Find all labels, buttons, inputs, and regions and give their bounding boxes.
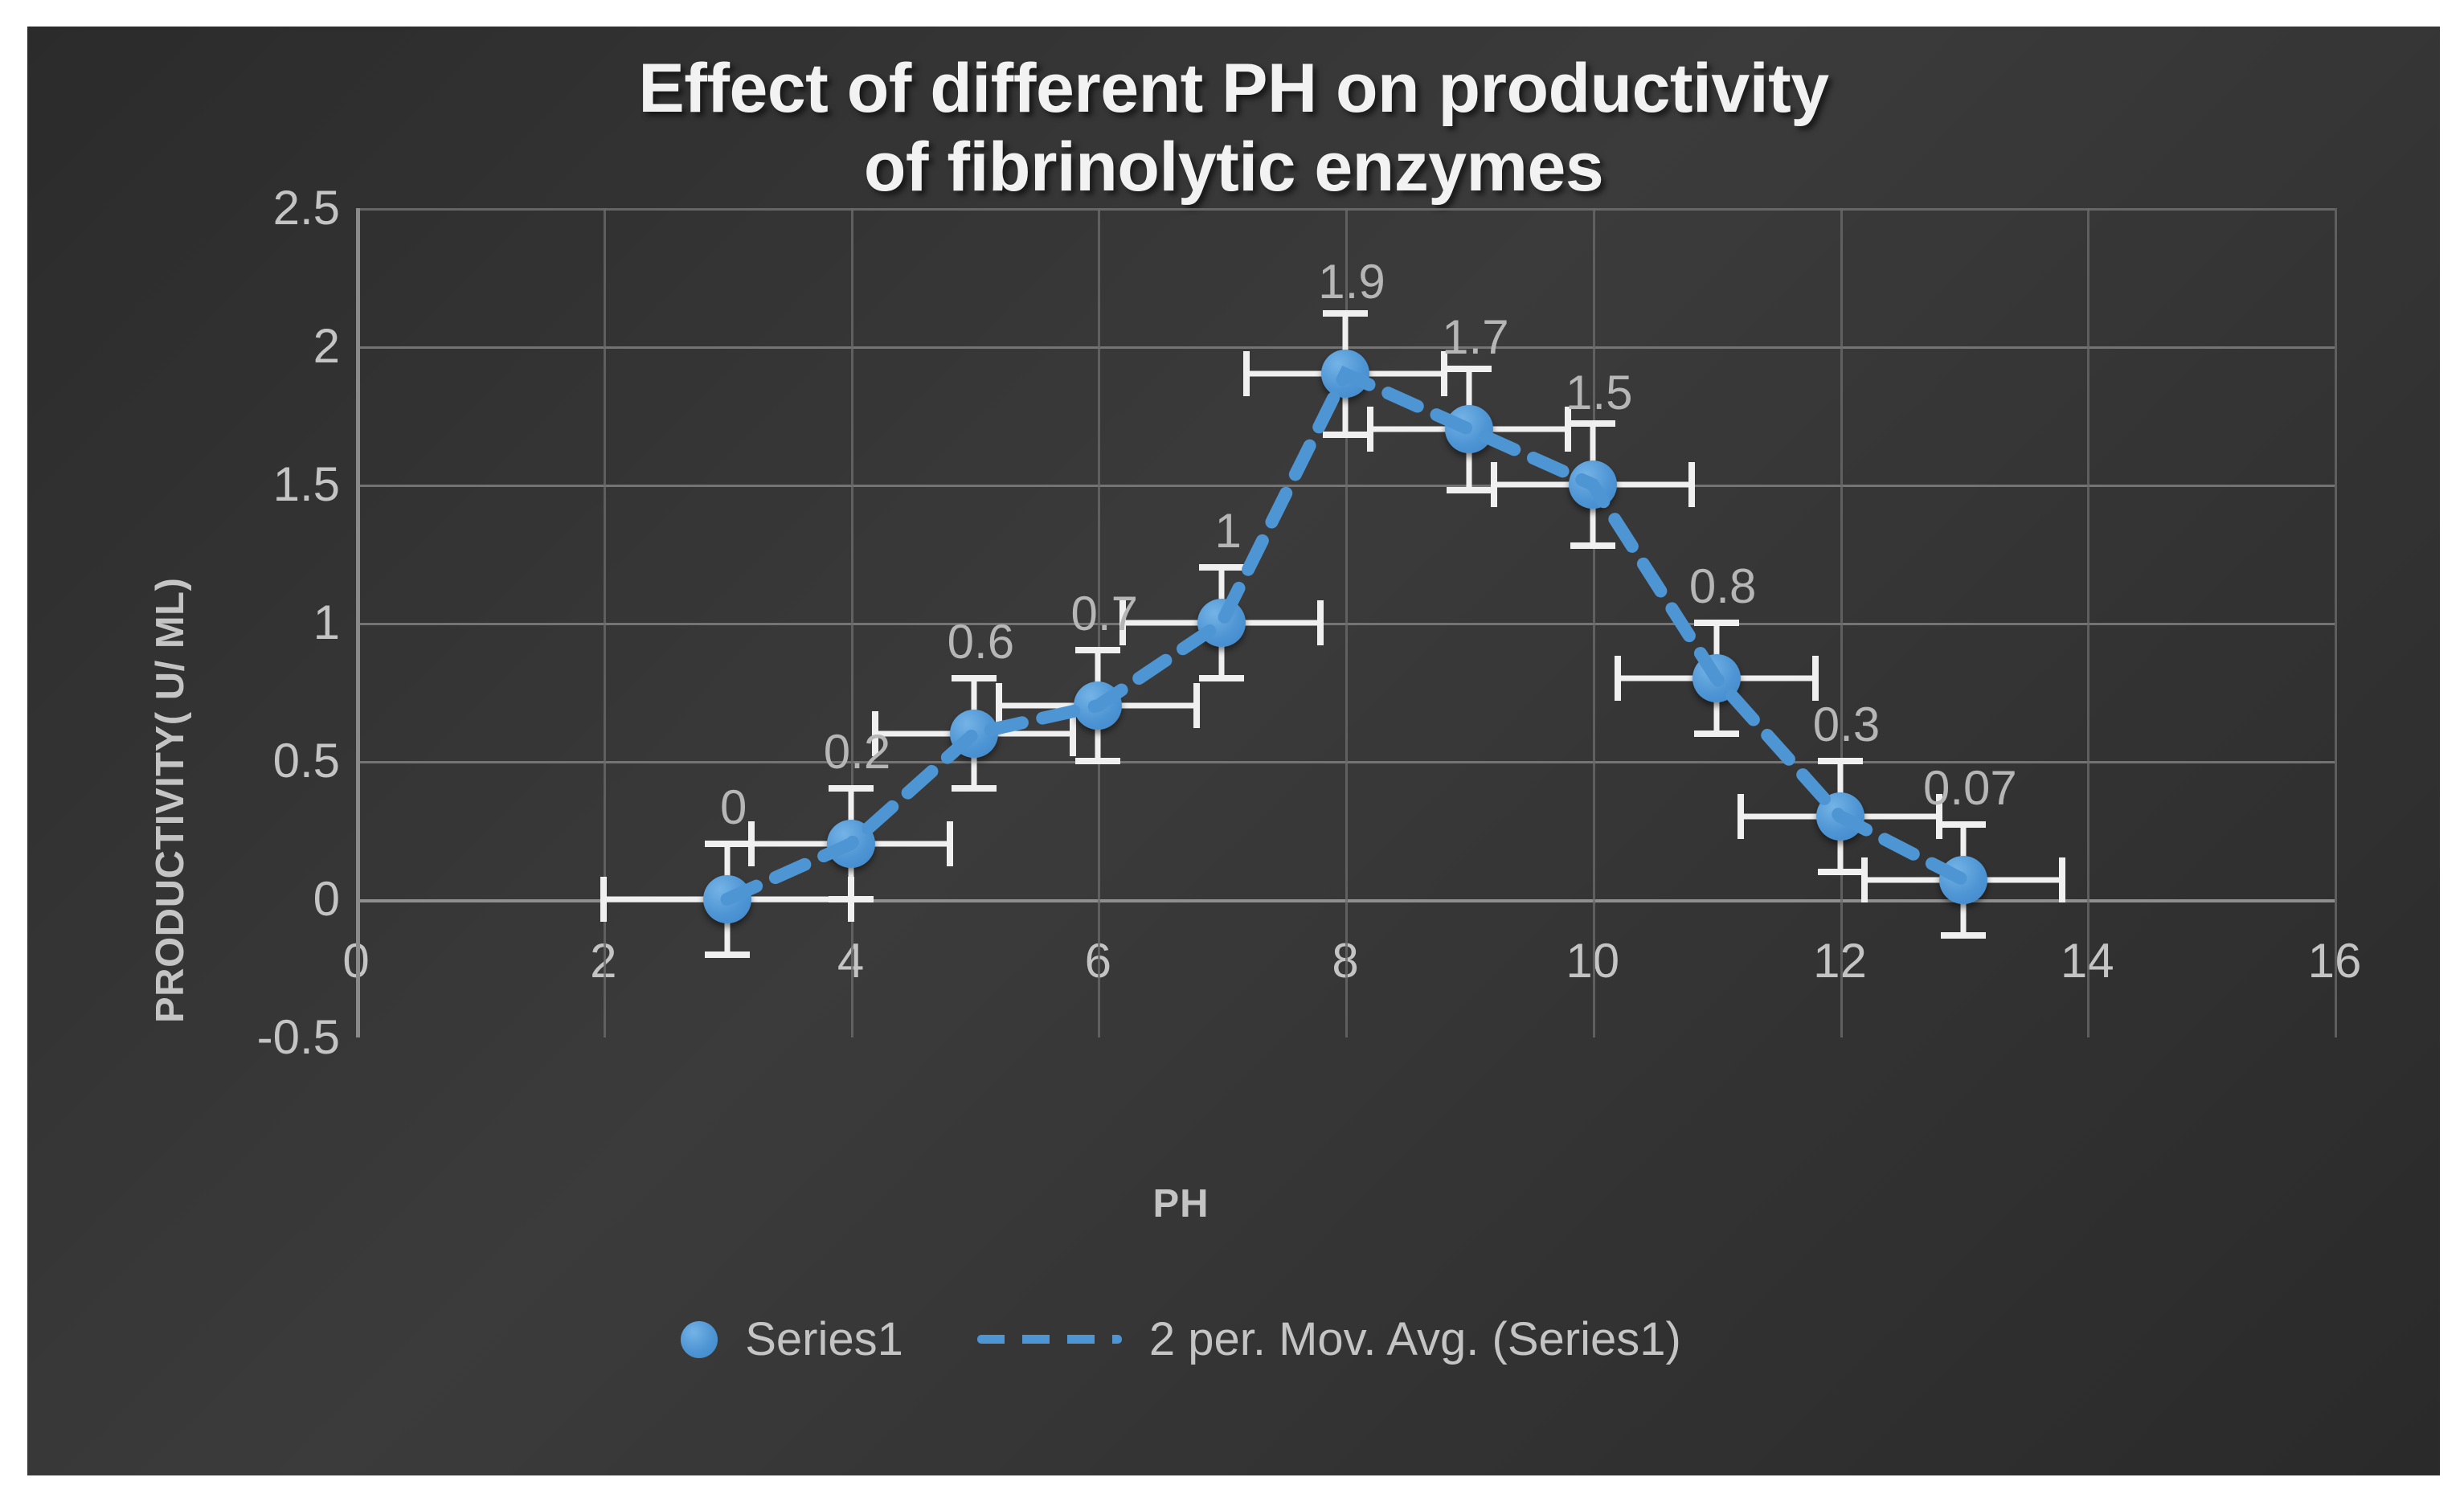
- data-point-marker[interactable]: [1816, 792, 1864, 841]
- data-point-marker[interactable]: [1445, 405, 1493, 453]
- legend-entry[interactable]: 2 per. Mov. Avg. (Series1): [977, 1312, 1681, 1366]
- axis-y-line: [356, 208, 360, 1037]
- y-axis-tick-label: 0: [203, 871, 340, 927]
- error-bar-cap: [1694, 730, 1739, 737]
- error-bar-cap: [1694, 620, 1739, 626]
- chart-title-line-1: Effect of different PH on productivity: [27, 49, 2440, 128]
- error-bar-cap: [1323, 432, 1368, 438]
- error-bar-cap: [1317, 600, 1324, 645]
- y-axis-tick-label: 2: [203, 318, 340, 374]
- data-point-label: 0.7: [1071, 586, 1138, 641]
- legend-entry[interactable]: Series1: [681, 1312, 903, 1366]
- legend-label: 2 per. Mov. Avg. (Series1): [1149, 1312, 1681, 1366]
- error-bar-cap: [952, 675, 997, 681]
- error-bar-cap: [952, 785, 997, 792]
- error-bar-cap: [1199, 564, 1244, 571]
- error-bar-cap: [1941, 821, 1986, 828]
- error-bar-cap: [2059, 857, 2065, 902]
- error-bar-cap: [1818, 869, 1863, 875]
- y-axis-tick-label: -0.5: [203, 1009, 340, 1065]
- y-axis-tick-label: 2.5: [203, 180, 340, 235]
- data-point-label: 0.6: [948, 614, 1014, 669]
- error-bar-cap: [947, 821, 953, 866]
- data-point-marker[interactable]: [950, 710, 998, 758]
- error-bar-cap: [705, 841, 750, 847]
- chart-title: Effect of different PH on productivity o…: [27, 49, 2440, 207]
- y-axis-tick-label: 0.5: [203, 733, 340, 788]
- legend-label: Series1: [745, 1312, 903, 1366]
- error-bar-cap: [1075, 758, 1120, 764]
- data-point-marker[interactable]: [1197, 599, 1246, 647]
- error-bar-cap: [1688, 462, 1695, 507]
- error-bar-cap: [1447, 366, 1492, 372]
- error-bar-cap: [1243, 351, 1250, 396]
- error-bar-cap: [705, 951, 750, 958]
- y-axis-title: PRODUCTIVITY( U/ ML): [148, 578, 193, 1023]
- error-bar-cap: [1075, 647, 1120, 653]
- plot-area: 00.20.60.711.91.71.50.80.30.07: [356, 208, 2335, 1037]
- error-bar-cap: [1941, 932, 1986, 939]
- x-axis-title: PH: [27, 1181, 2335, 1226]
- data-point-label: 1: [1214, 503, 1241, 559]
- data-point-label: 0.3: [1813, 697, 1880, 752]
- error-bar-cap: [1367, 407, 1373, 452]
- data-point-label: 0.07: [1923, 760, 2017, 816]
- error-bar-cap: [829, 896, 874, 902]
- error-bar-cap: [1447, 487, 1492, 493]
- data-point-marker[interactable]: [1692, 654, 1741, 702]
- data-point-marker[interactable]: [1321, 350, 1369, 398]
- error-bar-cap: [1491, 462, 1497, 507]
- error-bar-cap: [600, 877, 607, 922]
- legend-circle-icon: [681, 1321, 718, 1358]
- data-point-label: 0.8: [1689, 559, 1756, 614]
- data-point-marker[interactable]: [827, 820, 875, 868]
- error-bar-cap: [996, 683, 1002, 728]
- error-bar-cap: [1737, 794, 1744, 839]
- data-point-marker[interactable]: [1569, 460, 1617, 509]
- data-point-label: 0: [720, 780, 747, 835]
- data-point-label: 0.2: [824, 724, 890, 780]
- chart-container: Effect of different PH on productivity o…: [27, 27, 2440, 1475]
- error-bar-cap: [748, 821, 755, 866]
- error-bar-cap: [1615, 656, 1621, 701]
- error-bar-cap: [1812, 656, 1819, 701]
- error-bar-cap: [1570, 420, 1615, 427]
- error-bar-cap: [1193, 683, 1200, 728]
- chart-title-line-2: of fibrinolytic enzymes: [27, 128, 2440, 207]
- error-bar-cap: [829, 785, 874, 792]
- gridline-vertical: [2335, 208, 2337, 1037]
- data-point-marker[interactable]: [1939, 856, 1987, 904]
- gridline-vertical: [1840, 208, 1843, 1037]
- data-point-marker[interactable]: [703, 875, 751, 923]
- data-point-label: 1.5: [1566, 365, 1632, 420]
- legend-dashed-line-icon: [977, 1335, 1122, 1344]
- y-axis-tick-label: 1: [203, 595, 340, 650]
- error-bar-cap: [1818, 758, 1863, 764]
- data-point-label: 1.9: [1318, 254, 1385, 309]
- error-bar-cap: [1199, 675, 1244, 681]
- gridline-vertical: [2087, 208, 2089, 1037]
- y-axis-tick-label: 1.5: [203, 456, 340, 512]
- data-point-marker[interactable]: [1074, 681, 1122, 730]
- data-point-label: 1.7: [1442, 309, 1508, 365]
- chart-legend: Series12 per. Mov. Avg. (Series1): [27, 1312, 2335, 1366]
- error-bar-cap: [1861, 857, 1868, 902]
- gridline-vertical: [1593, 208, 1595, 1037]
- error-bar-cap: [1323, 310, 1368, 317]
- error-bar-cap: [1070, 711, 1076, 756]
- error-bar-cap: [1570, 542, 1615, 549]
